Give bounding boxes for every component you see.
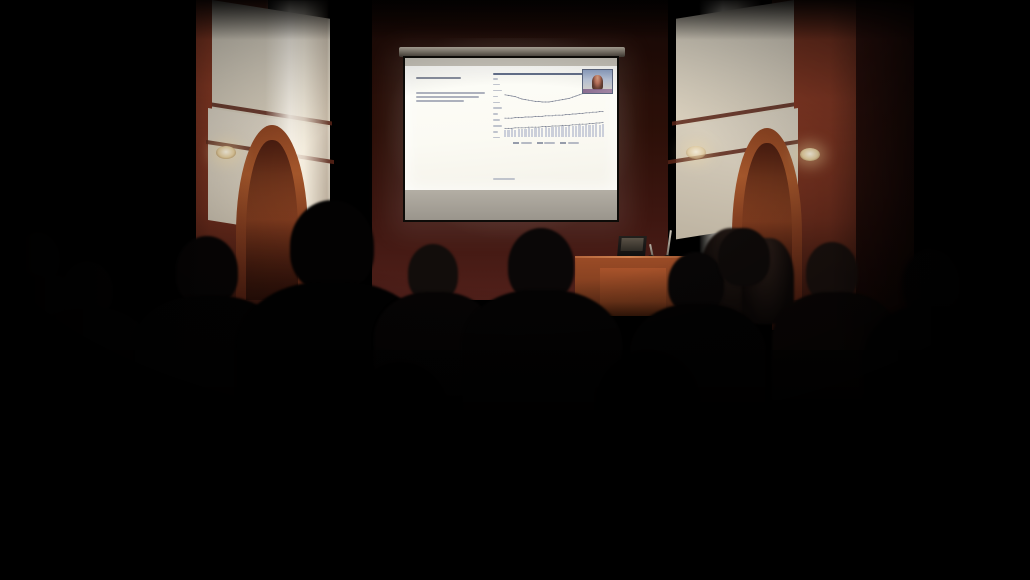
wall-sconce-right — [800, 148, 820, 161]
chart-y-tick-label — [493, 137, 500, 139]
chart-bar — [588, 125, 590, 137]
chart-bar — [518, 129, 520, 137]
chart-data-point — [562, 99, 563, 100]
chart-data-point — [602, 122, 603, 123]
chart-data-point — [572, 113, 573, 114]
chart-bar — [595, 124, 597, 137]
chart-y-tick-label — [493, 78, 498, 80]
chart-data-point — [535, 116, 536, 117]
chart-data-point — [586, 112, 587, 113]
chart-data-point — [538, 101, 539, 102]
lecture-hall-scene: Darkened lecture hall during a presentat… — [0, 0, 1030, 580]
chart-legend — [513, 142, 579, 144]
chart-y-tick-label — [493, 125, 502, 127]
chart-data-point — [589, 112, 590, 113]
chart-bar — [565, 127, 567, 137]
chart-data-point — [528, 116, 529, 117]
chart-bar — [531, 129, 533, 137]
chart-data-point — [559, 115, 560, 116]
chart-bar — [551, 127, 553, 137]
chart-data-point — [545, 101, 546, 102]
legend-swatch — [537, 142, 543, 144]
slide-body-text — [416, 92, 488, 102]
chart-bar — [582, 126, 584, 137]
chart-y-tick-label — [493, 102, 500, 104]
legend-swatch — [560, 142, 566, 144]
chart-data-point — [548, 115, 549, 116]
chart-data-point — [555, 100, 556, 101]
audience-head-center — [290, 200, 374, 292]
chart-data-point — [602, 111, 603, 112]
chart-bar — [575, 126, 577, 137]
legend-label — [568, 142, 579, 144]
laptop — [617, 236, 647, 256]
chart-bar — [592, 125, 594, 137]
wall-sconce-center-right — [686, 146, 706, 159]
slide-text-column — [416, 77, 488, 104]
chart-data-point — [552, 115, 553, 116]
chart-data-point — [552, 101, 553, 102]
chart-data-point — [528, 100, 529, 101]
chart-data-point — [572, 97, 573, 98]
projection-screen — [405, 58, 617, 220]
chart-data-point — [565, 114, 566, 115]
chart-bar — [541, 128, 543, 137]
chart-bar — [534, 128, 536, 137]
legend-item — [513, 142, 532, 144]
chart-data-point — [592, 112, 593, 113]
chart-y-tick-label — [493, 131, 498, 133]
chart-data-point — [579, 94, 580, 95]
chart-y-tick-label — [493, 107, 502, 109]
chart-data-point — [504, 94, 505, 95]
presentation-slide — [405, 66, 617, 190]
chart-bar — [602, 124, 604, 137]
chart-y-tick-label — [493, 113, 498, 115]
laptop-screen — [621, 238, 644, 251]
chart-data-point — [535, 101, 536, 102]
speaker-name-bar — [583, 89, 612, 93]
wall-sconce-left — [216, 146, 236, 159]
chart-data-point — [525, 116, 526, 117]
chart-data-point — [548, 101, 549, 102]
audience-head — [718, 228, 770, 286]
chart-data-point — [542, 101, 543, 102]
desk-front-panel — [600, 268, 666, 316]
chart-data-point — [511, 118, 512, 119]
chart-data-point — [538, 116, 539, 117]
foreground-darkness — [0, 350, 1030, 580]
chart-data-point — [579, 113, 580, 114]
chart-data-point — [508, 95, 509, 96]
chart-y-tick-label — [493, 96, 498, 98]
legend-label — [521, 142, 532, 144]
chart-bar — [572, 126, 574, 137]
chart-data-point — [542, 116, 543, 117]
slide-heading — [416, 77, 488, 79]
chart-y-axis — [493, 78, 502, 138]
speaker-video-feed — [582, 69, 613, 94]
chart-data-point — [518, 97, 519, 98]
legend-item — [537, 142, 556, 144]
legend-item — [560, 142, 579, 144]
chart-bar — [561, 126, 563, 137]
chart-data-point — [515, 117, 516, 118]
chart-bar — [511, 129, 513, 137]
chart-bar — [548, 128, 550, 137]
chart-data-point — [521, 117, 522, 118]
chart-bar — [568, 126, 570, 137]
chart-data-point — [599, 111, 600, 112]
chart-line — [505, 112, 603, 119]
chart-bar — [545, 127, 547, 137]
chart-data-point — [582, 113, 583, 114]
chart-bar — [585, 125, 587, 137]
chart-data-point — [525, 99, 526, 100]
chart-bar — [555, 127, 557, 137]
chart-data-point — [555, 115, 556, 116]
chart-bar — [578, 125, 580, 137]
chart-data-point — [531, 116, 532, 117]
chart-data-point — [515, 96, 516, 97]
chart-data-point — [511, 95, 512, 96]
chart-y-tick-label — [493, 90, 502, 92]
chart-data-point — [596, 112, 597, 113]
chart-bar — [514, 130, 516, 137]
chart-bar — [558, 127, 560, 137]
chart-y-tick-label — [493, 119, 500, 121]
chart-data-point — [575, 95, 576, 96]
chart-data-point — [508, 118, 509, 119]
chart-bar — [538, 128, 540, 137]
chart-data-point — [545, 115, 546, 116]
legend-label — [544, 142, 555, 144]
speaker-figure — [592, 75, 603, 90]
chart-data-point — [569, 114, 570, 115]
chart-data-point — [559, 100, 560, 101]
chart-bar — [504, 130, 506, 137]
chart-data-point — [565, 98, 566, 99]
chart-data-point — [518, 117, 519, 118]
legend-swatch — [513, 142, 519, 144]
chart-data-point — [521, 98, 522, 99]
screen-blank-area — [405, 190, 617, 220]
chart-bar-series — [504, 124, 604, 137]
slide-source-note — [493, 178, 515, 180]
chart-y-tick-label — [493, 84, 500, 86]
chart-bar — [521, 129, 523, 137]
chart-bar — [528, 128, 530, 137]
chart-data-point — [575, 113, 576, 114]
chart-data-point — [569, 98, 570, 99]
chart-bar — [524, 129, 526, 137]
chart-data-point — [504, 118, 505, 119]
chart-data-point — [562, 115, 563, 116]
chart-bar — [599, 125, 601, 137]
chart-data-point — [531, 100, 532, 101]
chart-bar — [507, 130, 509, 137]
